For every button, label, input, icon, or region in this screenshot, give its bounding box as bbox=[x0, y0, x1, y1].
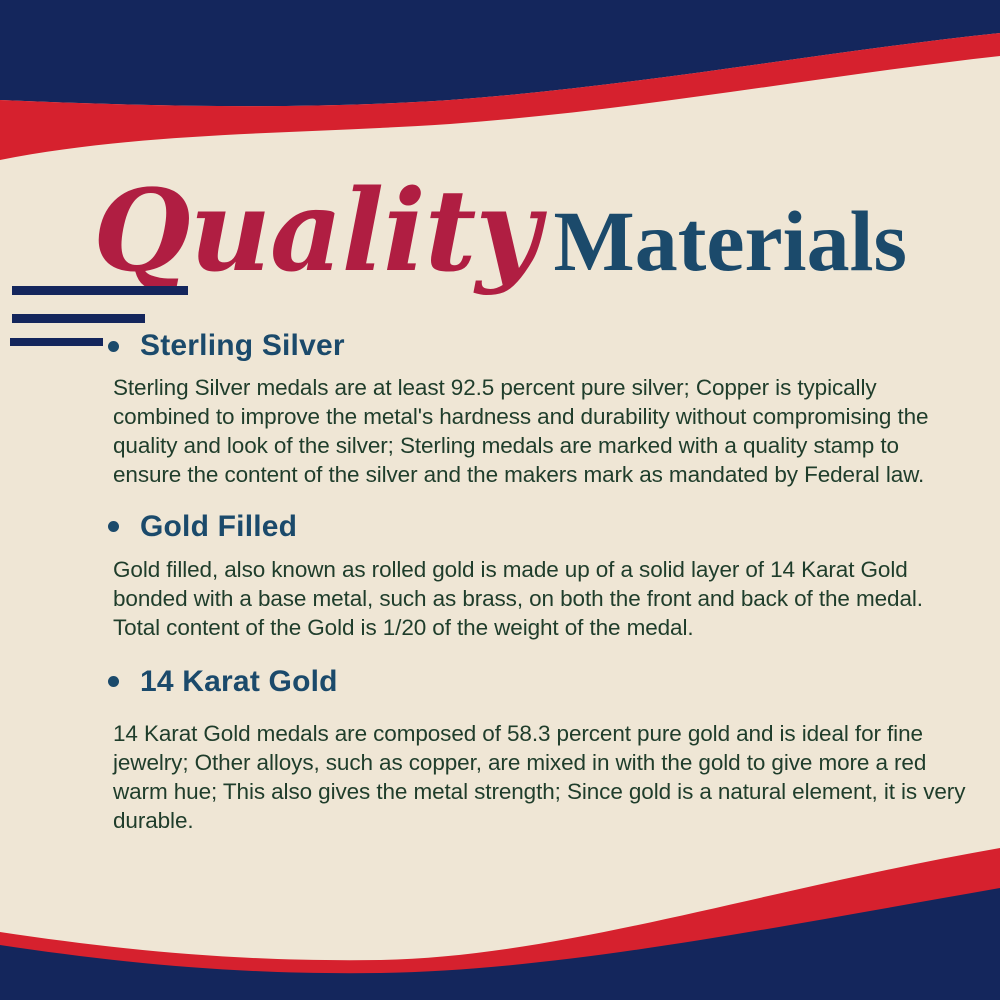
section-sterling-silver: Sterling Silver Sterling Silver medals a… bbox=[0, 328, 1000, 490]
top-wave-banner bbox=[0, 0, 1000, 180]
section-body-sterling-silver: Sterling Silver medals are at least 92.5… bbox=[113, 373, 971, 490]
bullet-icon bbox=[108, 521, 119, 532]
accent-rule-long bbox=[12, 286, 188, 295]
content-list: Sterling Silver Sterling Silver medals a… bbox=[0, 328, 1000, 837]
bottom-wave-banner bbox=[0, 820, 1000, 1000]
section-body-gold-filled: Gold filled, also known as rolled gold i… bbox=[113, 555, 971, 642]
title-word-quality: Quality bbox=[93, 166, 539, 297]
section-heading-label: Sterling Silver bbox=[140, 328, 345, 364]
section-heading-sterling-silver: Sterling Silver bbox=[108, 328, 1000, 364]
bottom-navy-wave bbox=[0, 888, 1000, 1000]
bottom-red-wave bbox=[0, 848, 1000, 1000]
section-gold-filled: Gold Filled Gold filled, also known as r… bbox=[0, 509, 1000, 642]
top-navy-wave bbox=[0, 0, 1000, 106]
accent-rule-medium bbox=[12, 314, 145, 323]
top-red-wave bbox=[0, 33, 1000, 160]
section-14-karat-gold: 14 Karat Gold 14 Karat Gold medals are c… bbox=[0, 664, 1000, 836]
section-heading-gold-filled: Gold Filled bbox=[108, 509, 1000, 545]
bullet-icon bbox=[108, 341, 119, 352]
bullet-icon bbox=[108, 676, 119, 687]
section-body-14-karat-gold: 14 Karat Gold medals are composed of 58.… bbox=[113, 719, 985, 836]
section-heading-label: Gold Filled bbox=[140, 509, 297, 545]
poster-canvas: QualityMaterials Sterling Silver Sterlin… bbox=[0, 0, 1000, 1000]
section-heading-label: 14 Karat Gold bbox=[140, 664, 338, 700]
page-title: QualityMaterials bbox=[0, 176, 1000, 288]
title-word-materials: Materials bbox=[554, 193, 907, 289]
section-heading-14-karat-gold: 14 Karat Gold bbox=[108, 664, 1000, 700]
